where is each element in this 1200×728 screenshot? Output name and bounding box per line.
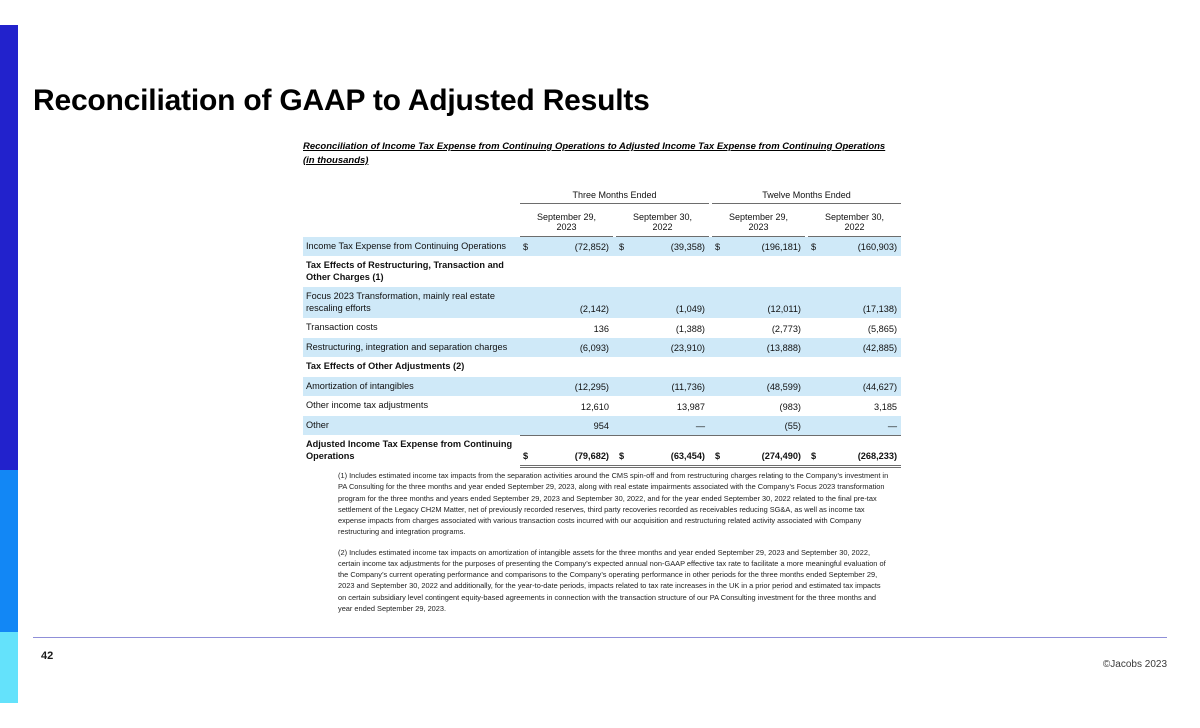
currency-symbol-col1: [520, 256, 538, 287]
table-group-header-row: Three Months Ended Twelve Months Ended: [303, 190, 901, 204]
table-cell-value-col2: (23,910): [634, 338, 709, 358]
currency-symbol-col3: [712, 377, 730, 397]
table-cell-value-col2: (1,388): [634, 318, 709, 338]
table-cell-value-col3: (196,181): [730, 237, 805, 257]
currency-symbol-col3: [712, 318, 730, 338]
table-row-label: Other: [303, 416, 520, 436]
table-period-header-row: September 29, 2023 September 30, 2022 Se…: [303, 208, 901, 237]
table-cell-value-col4: (44,627): [826, 377, 901, 397]
currency-symbol-col1: $: [520, 435, 538, 466]
table-row-label: Tax Effects of Restructuring, Transactio…: [303, 256, 520, 287]
table-row-label: Amortization of intangibles: [303, 377, 520, 397]
left-accent-bar: [0, 25, 18, 703]
accent-segment-dark-blue: [0, 25, 18, 470]
table-row-label: Tax Effects of Other Adjustments (2): [303, 357, 520, 377]
table-row: Other954—(55)—: [303, 416, 901, 436]
table-cell-value-col1: (72,852): [538, 237, 613, 257]
footnotes-container: (1) Includes estimated income tax impact…: [338, 470, 889, 623]
table-cell-value-col3: [730, 256, 805, 287]
period-header-3-line2: 2023: [712, 222, 805, 233]
currency-symbol-col1: [520, 396, 538, 416]
period-header-1-line1: September 29,: [520, 212, 613, 223]
currency-symbol-col4: [808, 416, 826, 436]
footnote-2: (2) Includes estimated income tax impact…: [338, 547, 889, 615]
table-row-label: Other income tax adjustments: [303, 396, 520, 416]
currency-symbol-col3: $: [712, 237, 730, 257]
copyright-notice: ©Jacobs 2023: [1103, 659, 1167, 670]
table-row: Tax Effects of Other Adjustments (2): [303, 357, 901, 377]
currency-symbol-col4: [808, 396, 826, 416]
table-cell-value-col4: (5,865): [826, 318, 901, 338]
table-cell-value-col1: 136: [538, 318, 613, 338]
currency-symbol-col3: [712, 338, 730, 358]
footnote-1: (1) Includes estimated income tax impact…: [338, 470, 889, 538]
period-header-1: September 29, 2023: [520, 208, 613, 237]
table-row: Tax Effects of Restructuring, Transactio…: [303, 256, 901, 287]
currency-symbol-col1: [520, 338, 538, 358]
table-cell-value-col1: (2,142): [538, 287, 613, 318]
table-cell-value-col4: (160,903): [826, 237, 901, 257]
currency-symbol-col4: [808, 357, 826, 377]
currency-symbol-col1: [520, 287, 538, 318]
table-cell-value-col3: [730, 357, 805, 377]
table-cell-value-col3: (13,888): [730, 338, 805, 358]
period-header-3: September 29, 2023: [712, 208, 805, 237]
table-row-label: Restructuring, integration and separatio…: [303, 338, 520, 358]
table-row: Income Tax Expense from Continuing Opera…: [303, 237, 901, 257]
table-cell-value-col1: [538, 256, 613, 287]
table-caption: Reconciliation of Income Tax Expense fro…: [303, 140, 889, 168]
table-cell-value-col4: (268,233): [826, 435, 901, 466]
table-row: Other income tax adjustments12,61013,987…: [303, 396, 901, 416]
currency-symbol-col2: $: [616, 435, 634, 466]
currency-symbol-col3: [712, 396, 730, 416]
period-header-3-line1: September 29,: [712, 212, 805, 223]
page-number: 42: [41, 650, 53, 662]
reconciliation-table-container: Reconciliation of Income Tax Expense fro…: [303, 140, 892, 468]
table-cell-value-col2: (11,736): [634, 377, 709, 397]
table-row-label: Income Tax Expense from Continuing Opera…: [303, 237, 520, 257]
table-cell-value-col2: [634, 256, 709, 287]
table-row: Amortization of intangibles(12,295)(11,7…: [303, 377, 901, 397]
currency-symbol-col3: [712, 416, 730, 436]
currency-symbol-col3: [712, 287, 730, 318]
currency-symbol-col1: [520, 357, 538, 377]
currency-symbol-col1: $: [520, 237, 538, 257]
period-header-2-line1: September 30,: [616, 212, 709, 223]
currency-symbol-col4: [808, 256, 826, 287]
currency-symbol-col2: [616, 256, 634, 287]
currency-symbol-col4: [808, 318, 826, 338]
footer-divider: [33, 637, 1167, 638]
currency-symbol-col1: [520, 416, 538, 436]
reconciliation-table: Three Months Ended Twelve Months Ended S…: [303, 190, 901, 468]
table-cell-value-col2: (1,049): [634, 287, 709, 318]
table-cell-value-col3: (2,773): [730, 318, 805, 338]
table-cell-value-col3: (12,011): [730, 287, 805, 318]
currency-symbol-col4: $: [808, 237, 826, 257]
currency-symbol-col2: $: [616, 237, 634, 257]
currency-symbol-col2: [616, 287, 634, 318]
table-cell-value-col3: (274,490): [730, 435, 805, 466]
period-header-2: September 30, 2022: [616, 208, 709, 237]
table-row-label: Transaction costs: [303, 318, 520, 338]
table-cell-value-col2: (63,454): [634, 435, 709, 466]
period-header-4: September 30, 2022: [808, 208, 901, 237]
table-cell-value-col1: 954: [538, 416, 613, 436]
currency-symbol-col2: [616, 416, 634, 436]
table-row: Focus 2023 Transformation, mainly real e…: [303, 287, 901, 318]
table-cell-value-col4: (17,138): [826, 287, 901, 318]
currency-symbol-col4: [808, 287, 826, 318]
table-cell-value-col2: (39,358): [634, 237, 709, 257]
table-cell-value-col1: (79,682): [538, 435, 613, 466]
currency-symbol-col2: [616, 338, 634, 358]
currency-symbol-col3: [712, 256, 730, 287]
table-cell-value-col4: [826, 256, 901, 287]
table-cell-value-col4: (42,885): [826, 338, 901, 358]
table-cell-value-col3: (983): [730, 396, 805, 416]
table-cell-value-col1: 12,610: [538, 396, 613, 416]
table-cell-value-col1: (12,295): [538, 377, 613, 397]
table-cell-value-col3: (55): [730, 416, 805, 436]
currency-symbol-col4: [808, 338, 826, 358]
table-cell-value-col1: (6,093): [538, 338, 613, 358]
table-cell-value-col2: —: [634, 416, 709, 436]
table-cell-value-col2: [634, 357, 709, 377]
currency-symbol-col2: [616, 357, 634, 377]
currency-symbol-col2: [616, 396, 634, 416]
table-cell-value-col4: 3,185: [826, 396, 901, 416]
currency-symbol-col3: [712, 357, 730, 377]
period-header-4-line1: September 30,: [808, 212, 901, 223]
currency-symbol-col4: [808, 377, 826, 397]
table-cell-value-col1: [538, 357, 613, 377]
accent-segment-blue: [0, 470, 18, 632]
currency-symbol-col4: $: [808, 435, 826, 466]
currency-symbol-col3: $: [712, 435, 730, 466]
group-header-three-months: Three Months Ended: [520, 190, 709, 204]
table-cell-value-col3: (48,599): [730, 377, 805, 397]
header-spacer: [303, 190, 520, 204]
table-cell-value-col4: [826, 357, 901, 377]
table-row: Transaction costs136(1,388)(2,773)(5,865…: [303, 318, 901, 338]
currency-symbol-col2: [616, 377, 634, 397]
period-header-1-line2: 2023: [520, 222, 613, 233]
currency-symbol-col2: [616, 318, 634, 338]
group-header-twelve-months: Twelve Months Ended: [712, 190, 901, 204]
table-row: Restructuring, integration and separatio…: [303, 338, 901, 358]
page-title: Reconciliation of GAAP to Adjusted Resul…: [33, 84, 650, 118]
table-body: Income Tax Expense from Continuing Opera…: [303, 237, 901, 467]
currency-symbol-col1: [520, 377, 538, 397]
currency-symbol-col1: [520, 318, 538, 338]
table-cell-value-col4: —: [826, 416, 901, 436]
table-cell-value-col2: 13,987: [634, 396, 709, 416]
header-spacer-2: [303, 208, 520, 237]
period-header-2-line2: 2022: [616, 222, 709, 233]
period-header-4-line2: 2022: [808, 222, 901, 233]
table-total-row: Adjusted Income Tax Expense from Continu…: [303, 435, 901, 466]
accent-segment-cyan: [0, 632, 18, 703]
table-row-label: Focus 2023 Transformation, mainly real e…: [303, 287, 520, 318]
table-total-label: Adjusted Income Tax Expense from Continu…: [303, 435, 520, 466]
